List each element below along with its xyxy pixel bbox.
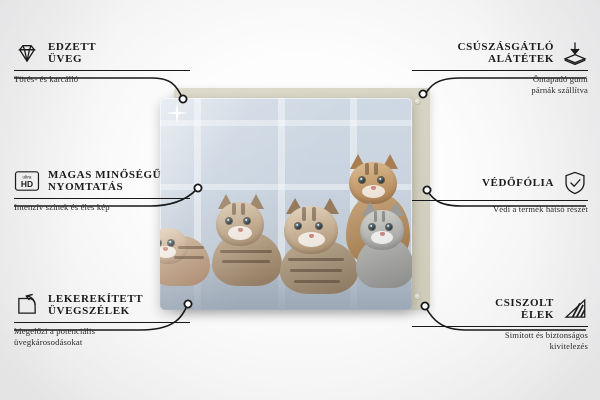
feature-high-quality-print: ultra HD MAGAS MINŐSÉGŰNYOMTATÁS Intenzí… — [14, 168, 190, 213]
feature-rounded-edges: LEKEREKÍTETTÜVEGSZÉLEK Megelőzi a potenc… — [14, 292, 190, 347]
feature-subtitle: Védi a termék hátsó részét — [412, 204, 588, 215]
feature-tempered-glass: EDZETTÜVEG Törés- és karcálló — [14, 40, 190, 85]
glass-board — [160, 98, 412, 310]
feature-title: VÉDŐFÓLIA — [482, 177, 554, 190]
ultra-hd-icon-bottom: HD — [21, 179, 33, 189]
rounded-corner-icon — [14, 292, 40, 318]
feature-title: CSÚSZÁSGÁTLÓALÁTÉTEK — [458, 41, 554, 66]
feature-title: LEKEREKÍTETTÜVEGSZÉLEK — [48, 293, 143, 318]
feature-anti-slip-pads: CSÚSZÁSGÁTLÓALÁTÉTEK Öntapadó gumipárnák… — [412, 40, 588, 95]
anti-slip-pad-icon — [562, 40, 588, 66]
feature-title: MAGAS MINŐSÉGŰNYOMTATÁS — [48, 169, 161, 194]
feature-divider — [14, 322, 190, 323]
shield-check-icon — [562, 170, 588, 196]
feature-subtitle: Simított és biztonságoskivitelezés — [412, 330, 588, 351]
infographic-canvas: EDZETTÜVEG Törés- és karcálló ultra HD M… — [0, 0, 600, 400]
ultra-hd-icon: ultra HD — [14, 168, 40, 194]
feature-divider — [412, 326, 588, 327]
feature-subtitle: Öntapadó gumipárnák szállítva — [412, 74, 588, 95]
polished-edge-icon — [562, 296, 588, 322]
product-image — [160, 88, 430, 314]
backing-screw-icon — [414, 98, 421, 105]
feature-subtitle: Törés- és karcálló — [14, 74, 190, 85]
diamond-icon — [14, 40, 40, 66]
feature-subtitle: Intenzív színek és éles kép — [14, 202, 190, 213]
feature-title: CSISZOLTÉLEK — [495, 297, 554, 322]
feature-polished-edges: CSISZOLTÉLEK Simított és biztonságoskivi… — [412, 296, 588, 351]
feature-divider — [14, 70, 190, 71]
feature-protective-foil: VÉDŐFÓLIA Védi a termék hátsó részét — [412, 170, 588, 215]
feature-divider — [412, 200, 588, 201]
feature-divider — [412, 70, 588, 71]
glass-sheen — [160, 98, 412, 310]
feature-divider — [14, 198, 190, 199]
feature-title: EDZETTÜVEG — [48, 41, 96, 66]
feature-subtitle: Megelőzi a potenciálisüvegkárosodásokat — [14, 326, 190, 347]
